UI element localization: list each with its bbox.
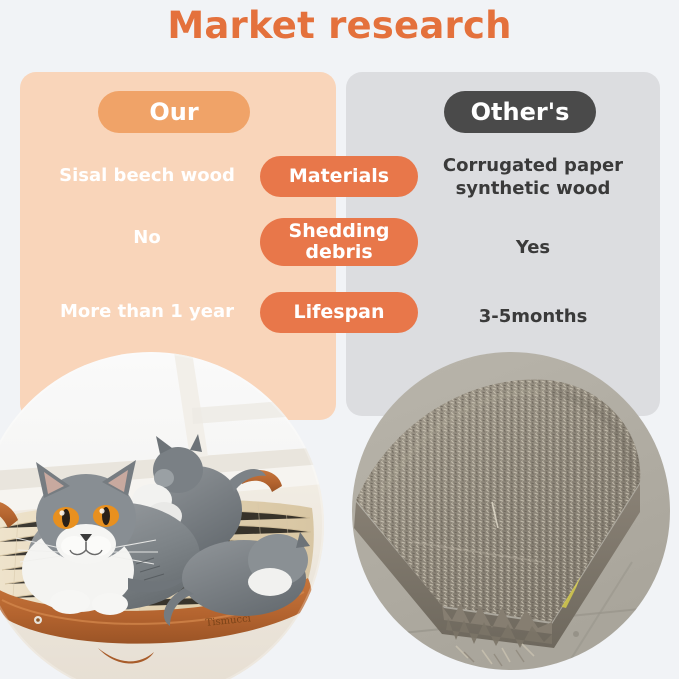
other-header-label: Other's	[471, 98, 570, 126]
our-header-pill: Our	[98, 91, 250, 133]
other-value-shedding-debris: Yes	[420, 236, 646, 259]
market-research-infographic: Market research Our Other's Materials Sh…	[0, 0, 679, 679]
worn-cardboard-scratcher-image	[352, 352, 670, 670]
other-value-materials: Corrugated papersynthetic wood	[420, 154, 646, 200]
other-product-photo	[352, 352, 670, 670]
our-header-label: Our	[149, 98, 198, 126]
other-value-lifespan: 3-5months	[420, 305, 646, 328]
feature-label: Materials	[289, 166, 389, 187]
other-header-pill: Other's	[444, 91, 596, 133]
page-title: Market research	[0, 4, 679, 47]
feature-label: Sheddingdebris	[289, 221, 390, 263]
feature-pill-lifespan: Lifespan	[260, 292, 418, 333]
feature-pill-shedding-debris: Sheddingdebris	[260, 218, 418, 266]
our-value-materials: Sisal beech wood	[34, 165, 260, 186]
feature-pill-materials: Materials	[260, 156, 418, 197]
our-value-lifespan: More than 1 year	[34, 301, 260, 322]
our-value-shedding-debris: No	[34, 227, 260, 248]
feature-label: Lifespan	[293, 302, 384, 323]
